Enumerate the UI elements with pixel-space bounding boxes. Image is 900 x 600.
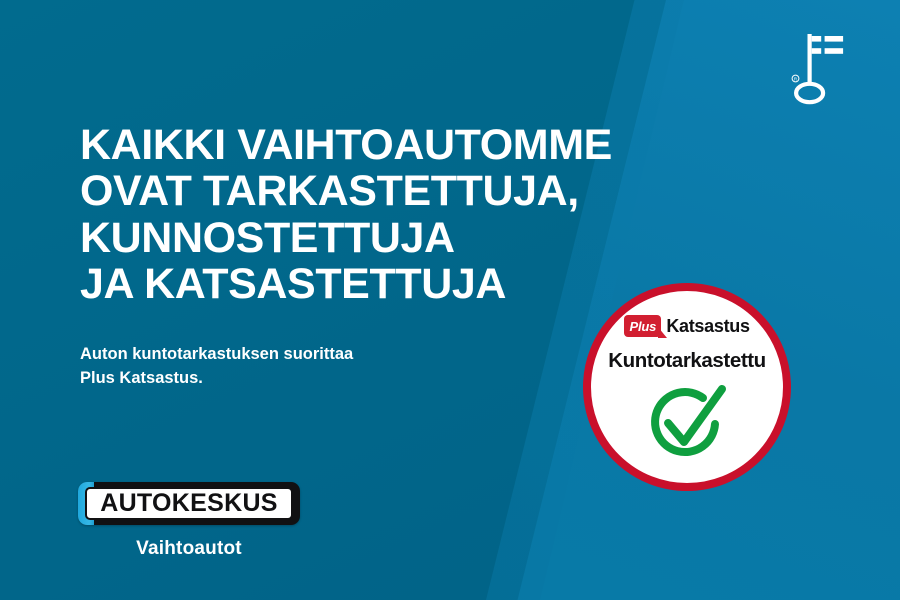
plus-logo-text: Plus [630,320,657,333]
logo-plate-inner: AUTOKESKUS [85,487,293,520]
avainlippu-key-flag-icon: R [786,28,852,106]
headline-line-3: KUNNOSTETTUJA [80,215,680,261]
seal-brand-word: Katsastus [666,317,749,335]
seal-brand-lockup: Plus Katsastus [624,315,749,337]
headline-line-2: OVAT TARKASTETTUJA, [80,168,680,214]
plus-logo-mark: Plus [624,315,661,337]
logo-subtitle: Vaihtoautot [78,538,300,560]
headline-line-4: JA KATSASTETTUJA [80,261,680,307]
plus-katsastus-seal: Plus Katsastus Kuntotarkastettu [583,283,791,491]
promo-banner: R KAIKKI VAIHTOAUTOMME OVAT TARKASTETTUJ… [0,0,900,600]
subtitle-line-2: Plus Katsastus. [80,367,353,391]
subtitle-line-1: Auton kuntotarkastuksen suorittaa [80,343,353,367]
logo-plate: AUTOKESKUS [78,482,300,525]
headline-line-1: KAIKKI VAIHTOAUTOMME [80,122,680,168]
logo-wordmark: AUTOKESKUS [100,491,278,516]
subtitle: Auton kuntotarkastuksen suorittaa Plus K… [80,343,353,391]
seal-claim-text: Kuntotarkastettu [608,351,766,372]
green-check-circle-icon [641,382,733,462]
autokeskus-logo: AUTOKESKUS Vaihtoautot [78,482,300,560]
headline: KAIKKI VAIHTOAUTOMME OVAT TARKASTETTUJA,… [80,122,680,308]
svg-text:R: R [794,77,797,82]
